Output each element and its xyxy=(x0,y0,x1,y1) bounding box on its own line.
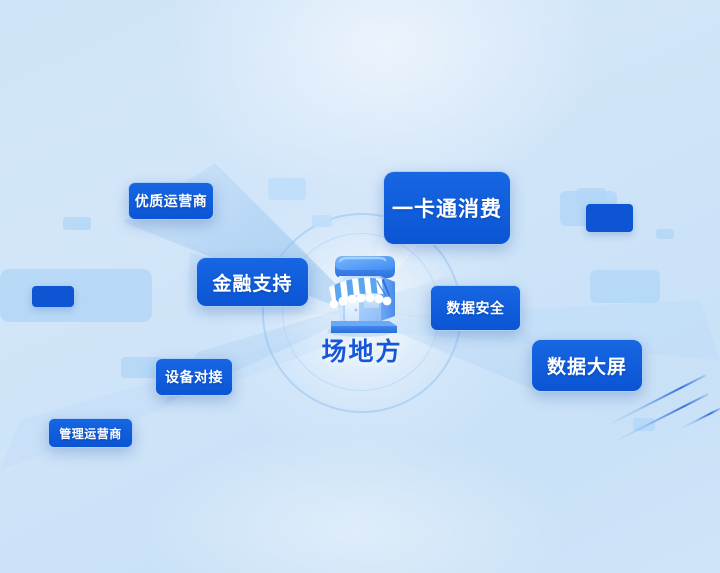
storefront-icon xyxy=(309,243,413,339)
ambient-glow-bottom xyxy=(140,430,570,573)
deco-rect-8 xyxy=(656,229,674,239)
node-chip-financial-support[interactable]: 金融支持 xyxy=(196,257,309,307)
node-chip-label: 优质运营商 xyxy=(135,191,208,211)
deco-rect-10 xyxy=(633,418,655,431)
node-chip-label: 管理运营商 xyxy=(59,425,122,442)
node-chip-label: 数据大屏 xyxy=(547,352,627,379)
infographic-canvas: 场地方 优质运营商金融支持一卡通消费数据安全数据大屏设备对接管理运营商 xyxy=(0,0,720,573)
deco-rect-7 xyxy=(590,270,660,303)
node-chip-label: 数据安全 xyxy=(447,298,505,318)
deco-rect-4 xyxy=(576,188,606,206)
deco-rect-5 xyxy=(560,191,617,226)
node-chip-data-dashboard[interactable]: 数据大屏 xyxy=(531,339,643,392)
deco-rect-12 xyxy=(586,204,633,232)
node-chip-data-security[interactable]: 数据安全 xyxy=(430,285,521,331)
deco-rect-6 xyxy=(0,269,152,322)
deco-rect-11 xyxy=(32,286,74,307)
center-label: 场地方 xyxy=(300,332,424,368)
deco-rect-2 xyxy=(268,178,306,200)
node-chip-device-docking[interactable]: 设备对接 xyxy=(155,358,233,396)
streak-2 xyxy=(614,393,709,443)
node-chip-premium-operator[interactable]: 优质运营商 xyxy=(128,182,214,220)
node-chip-label: 一卡通消费 xyxy=(392,193,502,223)
node-chip-manage-operator[interactable]: 管理运营商 xyxy=(48,418,133,448)
deco-rect-3 xyxy=(312,215,332,227)
node-chip-label: 金融支持 xyxy=(212,269,292,296)
node-chip-label: 设备对接 xyxy=(165,367,223,387)
streak-3 xyxy=(680,407,720,430)
deco-rect-1 xyxy=(63,217,91,230)
node-chip-one-card-payment[interactable]: 一卡通消费 xyxy=(383,171,511,245)
